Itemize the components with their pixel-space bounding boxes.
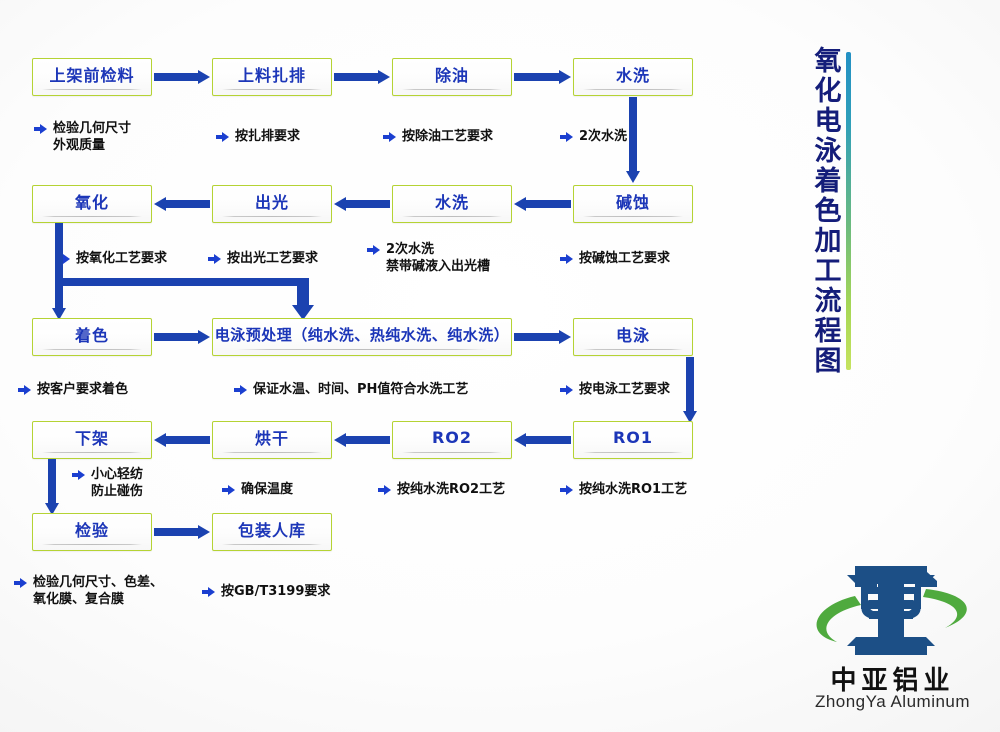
edge-n2-n3 — [334, 70, 390, 84]
edge-n16-n17 — [154, 525, 210, 539]
edge-n15-n16 — [45, 459, 59, 515]
process-box-label: 水洗 — [616, 62, 650, 86]
note-t16: 检验几何尺寸、色差、 氧化膜、复合膜 — [14, 574, 163, 608]
process-box-n15[interactable]: 下架 — [32, 421, 152, 459]
arrow-shaft — [154, 528, 199, 536]
process-box-n1[interactable]: 上架前检料 — [32, 58, 152, 96]
note-t10: 保证水温、时间、PH值符合水洗工艺 — [234, 381, 468, 398]
arrow-shaft — [334, 73, 379, 81]
note-text: 检验几何尺寸、色差、 氧化膜、复合膜 — [33, 574, 163, 608]
edge-n1-n2 — [154, 70, 210, 84]
swoosh-right-icon — [923, 589, 967, 628]
bullet-arrow-icon — [383, 130, 396, 143]
note-text: 按扎排要求 — [235, 128, 300, 145]
monogram-icon — [847, 566, 937, 655]
arrow-head — [514, 433, 526, 447]
process-box-n6[interactable]: 水洗 — [392, 185, 512, 223]
process-box-n3[interactable]: 除油 — [392, 58, 512, 96]
arrow-head — [198, 330, 210, 344]
edge-n13-n14 — [334, 433, 390, 447]
bullet-arrow-icon — [208, 252, 221, 265]
process-box-label: 下架 — [75, 425, 109, 449]
arrow-head — [334, 197, 346, 211]
arrow-shaft — [154, 333, 199, 341]
edge-n6-n7 — [334, 197, 390, 211]
process-box-n5[interactable]: 碱蚀 — [573, 185, 693, 223]
edge-n12-n13 — [514, 433, 571, 447]
bullet-arrow-icon — [560, 130, 573, 143]
bullet-arrow-icon — [367, 243, 380, 256]
bullet-arrow-icon — [34, 122, 47, 135]
arrow-shaft — [165, 436, 210, 444]
arrow-shaft — [48, 459, 56, 504]
note-t14: 按纯水洗RO2工艺 — [378, 481, 505, 498]
note-t3: 按除油工艺要求 — [383, 128, 493, 145]
note-t12: 小心轻纺 防止碰伤 — [72, 466, 143, 500]
arrow-head — [198, 70, 210, 84]
note-t15: 按纯水洗RO1工艺 — [560, 481, 687, 498]
note-t4: 2次水洗 — [560, 128, 627, 145]
process-box-n13[interactable]: RO2 — [392, 421, 512, 459]
edge-n8-n10 — [292, 278, 314, 320]
process-box-label: 碱蚀 — [616, 189, 650, 213]
edge-n7-n8 — [154, 197, 210, 211]
arrow-shaft — [525, 436, 571, 444]
note-text: 按GB/T3199要求 — [221, 583, 330, 600]
note-text: 2次水洗 — [579, 128, 627, 145]
process-box-n14[interactable]: 烘干 — [212, 421, 332, 459]
note-text: 按客户要求着色 — [37, 381, 128, 398]
note-text: 保证水温、时间、PH值符合水洗工艺 — [253, 381, 468, 398]
process-box-label: 检验 — [75, 517, 109, 541]
arrow-shaft — [525, 200, 571, 208]
process-box-label: 烘干 — [255, 425, 289, 449]
note-text: 小心轻纺 防止碰伤 — [91, 466, 143, 500]
process-box-label: 着色 — [75, 322, 109, 346]
page-title-text: 氧化电泳着色加工流程图 — [812, 46, 839, 376]
edge-n10-n11 — [514, 330, 571, 344]
process-box-label: RO2 — [432, 428, 472, 447]
process-box-label: 上架前检料 — [49, 62, 134, 86]
bullet-arrow-icon — [560, 383, 573, 396]
bullet-arrow-icon — [560, 252, 573, 265]
arrow-shaft — [345, 200, 390, 208]
logo-mark-icon — [795, 556, 990, 656]
swoosh-left-icon — [817, 596, 861, 642]
arrow-head — [559, 70, 571, 84]
arrow-shaft — [345, 436, 390, 444]
note-t17: 按GB/T3199要求 — [202, 583, 330, 600]
note-t5: 按氧化工艺要求 — [57, 250, 167, 267]
arrow-head — [154, 197, 166, 211]
process-box-label: 除油 — [435, 62, 469, 86]
edge-n11-n12 — [683, 357, 697, 423]
note-t2: 按扎排要求 — [216, 128, 300, 145]
process-box-n2[interactable]: 上料扎排 — [212, 58, 332, 96]
note-t1: 检验几何尺寸 外观质量 — [34, 120, 131, 154]
arrow-shaft — [514, 73, 560, 81]
arrow-head — [514, 197, 526, 211]
arrow-head — [154, 433, 166, 447]
arrow-shaft — [154, 73, 199, 81]
process-box-n4[interactable]: 水洗 — [573, 58, 693, 96]
arrow-shaft — [514, 333, 560, 341]
arrow-head — [378, 70, 390, 84]
note-t13: 确保温度 — [222, 481, 293, 498]
edge-n14-n15 — [154, 433, 210, 447]
bullet-arrow-icon — [560, 483, 573, 496]
note-text: 检验几何尺寸 外观质量 — [53, 120, 131, 154]
note-t8: 按碱蚀工艺要求 — [560, 250, 670, 267]
process-box-n7[interactable]: 出光 — [212, 185, 332, 223]
bullet-arrow-icon — [222, 483, 235, 496]
note-text: 按碱蚀工艺要求 — [579, 250, 670, 267]
arrow-shaft — [165, 200, 210, 208]
process-box-n8[interactable]: 氧化 — [32, 185, 152, 223]
title-gradient-rule — [846, 52, 851, 370]
process-box-label: 电泳预处理（纯水洗、热纯水洗、纯水洗） — [215, 324, 510, 345]
note-t6: 按出光工艺要求 — [208, 250, 318, 267]
process-box-label: 水洗 — [435, 189, 469, 213]
note-text: 确保温度 — [241, 481, 293, 498]
note-text: 按氧化工艺要求 — [76, 250, 167, 267]
edge-n3-n4 — [514, 70, 571, 84]
process-box-n12[interactable]: RO1 — [573, 421, 693, 459]
bullet-arrow-icon — [378, 483, 391, 496]
process-box-n9[interactable]: 着色 — [32, 318, 152, 356]
edge-n8-branch-horizontal — [55, 278, 303, 286]
bullet-arrow-icon — [72, 468, 85, 481]
edge-n9-n10 — [154, 330, 210, 344]
note-text: 按纯水洗RO1工艺 — [579, 481, 687, 498]
company-logo: 中亚铝业 ZhongYa Aluminum — [795, 556, 990, 721]
note-t7: 2次水洗 禁带碱液入出光槽 — [367, 241, 490, 275]
arrow-shaft — [686, 357, 694, 412]
process-box-label: 氧化 — [75, 189, 109, 213]
process-box-n10[interactable]: 电泳预处理（纯水洗、热纯水洗、纯水洗） — [212, 318, 512, 356]
process-box-label: 出光 — [255, 189, 289, 213]
note-t9: 按客户要求着色 — [18, 381, 128, 398]
process-box-n17[interactable]: 包装人库 — [212, 513, 332, 551]
bullet-arrow-icon — [234, 383, 247, 396]
arrow-head — [198, 525, 210, 539]
bullet-arrow-icon — [216, 130, 229, 143]
process-box-label: RO1 — [613, 428, 653, 447]
note-text: 按除油工艺要求 — [402, 128, 493, 145]
bullet-arrow-icon — [18, 383, 31, 396]
edge-n4-n5 — [626, 97, 640, 183]
arrow-shaft — [297, 278, 309, 306]
bullet-arrow-icon — [14, 576, 27, 589]
note-t11: 按电泳工艺要求 — [560, 381, 670, 398]
arrow-head — [334, 433, 346, 447]
arrow-head — [559, 330, 571, 344]
logo-company-en: ZhongYa Aluminum — [795, 692, 990, 712]
arrow-head — [626, 171, 640, 183]
edge-n8-n9 — [52, 280, 66, 320]
process-box-n16[interactable]: 检验 — [32, 513, 152, 551]
flowchart-canvas: 上架前检料 上料扎排 除油 水洗 检验几何尺寸 外观质量 按扎排要求 按除油工艺… — [0, 0, 1000, 732]
process-box-label: 上料扎排 — [238, 62, 306, 86]
process-box-label: 包装人库 — [238, 517, 306, 541]
note-text: 按电泳工艺要求 — [579, 381, 670, 398]
edge-n5-n6 — [514, 197, 571, 211]
note-text: 按出光工艺要求 — [227, 250, 318, 267]
note-text: 2次水洗 禁带碱液入出光槽 — [386, 241, 490, 275]
arrow-shaft — [629, 97, 637, 172]
bullet-arrow-icon — [202, 585, 215, 598]
process-box-n11[interactable]: 电泳 — [573, 318, 693, 356]
note-text: 按纯水洗RO2工艺 — [397, 481, 505, 498]
process-box-label: 电泳 — [616, 322, 650, 346]
